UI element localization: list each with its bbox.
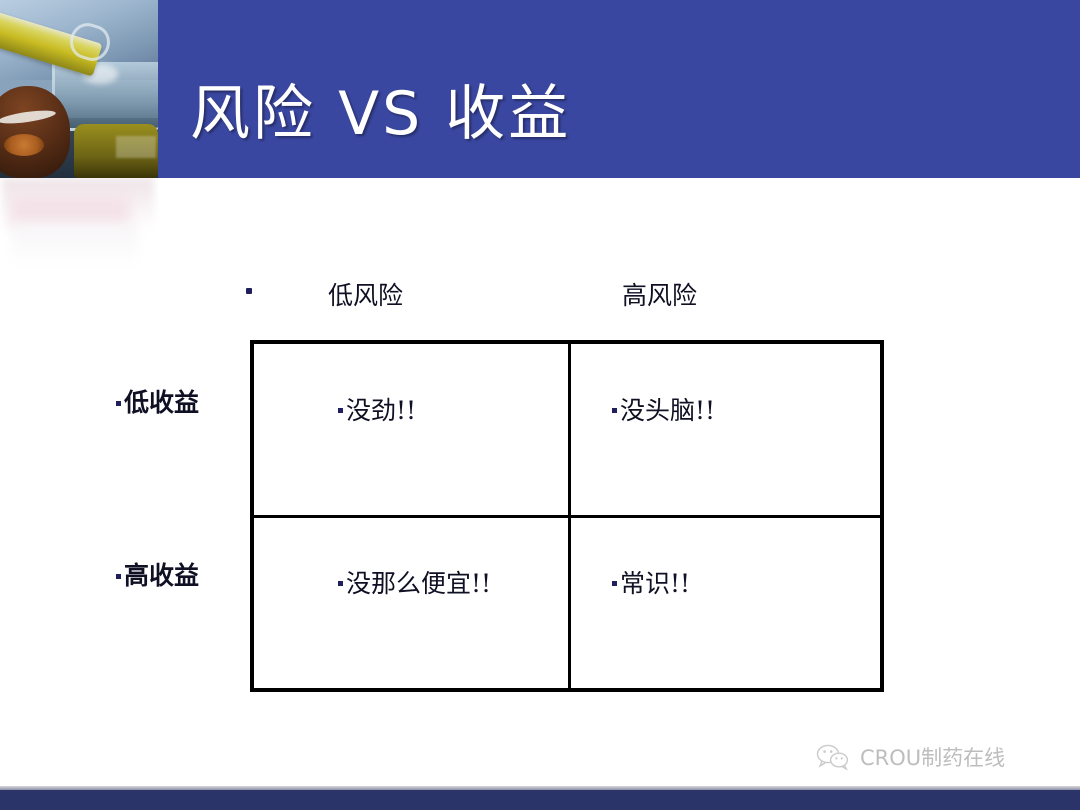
matrix-cell-low-risk-low-return: 没劲!! (338, 391, 416, 427)
lab-photo (0, 0, 158, 178)
cell-bullet-icon (612, 581, 617, 586)
wechat-icon (816, 744, 850, 770)
matrix-cell-label: 没头脑!! (620, 396, 715, 425)
cell-bullet-icon (612, 408, 617, 413)
row-header-low-return-label: 低收益 (124, 388, 199, 417)
footer-bar (0, 790, 1080, 810)
matrix-cell-label: 没劲!! (346, 396, 416, 425)
row-header-bullet-icon (116, 401, 121, 406)
cell-bullet-icon (338, 408, 343, 413)
matrix-cell-high-risk-high-return: 常识!! (612, 564, 690, 600)
photo-bottle-label (116, 136, 156, 158)
lab-photo-fade (0, 178, 158, 298)
watermark-text: CROU制药在线 (860, 742, 1005, 772)
matrix-horizontal-divider (254, 515, 880, 518)
matrix-cell-low-risk-high-return: 没那么便宜!! (338, 564, 491, 600)
column-header-low-risk: 低风险 (328, 276, 403, 312)
row-header-high-return-label: 高收益 (124, 561, 199, 590)
matrix-cell-label: 没那么便宜!! (346, 569, 491, 598)
column-header-high-risk: 高风险 (622, 276, 697, 312)
row-header-bullet-icon (116, 574, 121, 579)
page-title: 风险 VS 收益 (190, 78, 571, 150)
matrix-cell-high-risk-low-return: 没头脑!! (612, 391, 715, 427)
photo-fade-band-3 (12, 222, 138, 268)
cell-bullet-icon (338, 581, 343, 586)
photo-brown-cup (0, 86, 70, 178)
risk-return-matrix: 没劲!! 没头脑!! 没那么便宜!! 常识!! (250, 340, 884, 692)
watermark: CROU制药在线 (816, 742, 1005, 772)
photo-cup-contents (4, 134, 44, 156)
matrix-cell-label: 常识!! (620, 569, 690, 598)
row-header-high-return: 高收益 (116, 556, 199, 592)
column-header-bullet-icon (246, 288, 252, 294)
slide-canvas: 风险 VS 收益 低风险 高风险 低收益 高收益 没劲!! 没头脑!! 没那么便… (0, 0, 1080, 810)
row-header-low-return: 低收益 (116, 383, 199, 419)
